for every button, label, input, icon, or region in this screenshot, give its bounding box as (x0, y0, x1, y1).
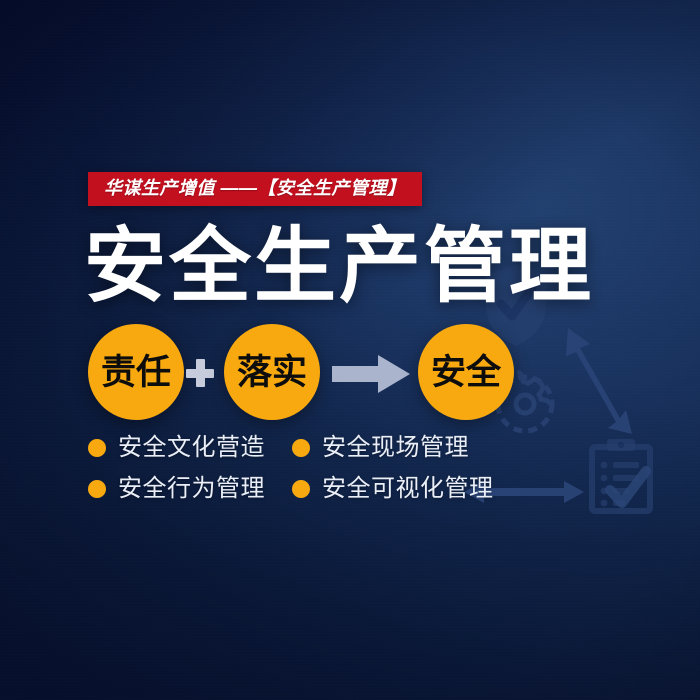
poster-content: 华谋生产增值 ——【安全生产管理】 安全生产管理 责任 落实 安全 安 (0, 0, 700, 700)
page-title: 安全生产管理 (84, 226, 594, 308)
list-item: 安全现场管理 (292, 436, 469, 460)
circle-result-safety-label: 安全 (431, 355, 501, 390)
bullet-dot-icon (292, 480, 310, 498)
circle-term-responsibility-label: 责任 (101, 355, 171, 390)
circle-result-safety: 安全 (418, 324, 514, 420)
list-item: 安全文化营造 (88, 436, 292, 460)
list-item-label: 安全现场管理 (322, 436, 469, 460)
ribbon-text: 华谋生产增值 ——【安全生产管理】 (104, 179, 406, 197)
list-item: 安全可视化管理 (292, 477, 494, 501)
circle-term-implementation-label: 落实 (237, 355, 307, 390)
bullet-row: 安全文化营造 安全现场管理 (88, 436, 508, 460)
poster-canvas: 华谋生产增值 ——【安全生产管理】 安全生产管理 责任 落实 安全 安 (0, 0, 700, 700)
circle-term-implementation: 落实 (224, 324, 320, 420)
circle-term-responsibility: 责任 (88, 324, 184, 420)
formula-row: 责任 落实 安全 (88, 324, 558, 422)
feature-bullet-list: 安全文化营造 安全现场管理 安全行为管理 安全可视化管理 (88, 436, 508, 501)
ribbon-banner: 华谋生产增值 ——【安全生产管理】 (88, 172, 422, 206)
bullet-dot-icon (292, 439, 310, 457)
bullet-dot-icon (88, 480, 106, 498)
list-item-label: 安全可视化管理 (322, 477, 494, 501)
right-arrow-icon (332, 355, 410, 393)
list-item-label: 安全行为管理 (118, 477, 265, 501)
bullet-row: 安全行为管理 安全可视化管理 (88, 477, 508, 501)
list-item: 安全行为管理 (88, 477, 292, 501)
bullet-dot-icon (88, 439, 106, 457)
list-item-label: 安全文化营造 (118, 436, 265, 460)
plus-icon (186, 359, 214, 387)
